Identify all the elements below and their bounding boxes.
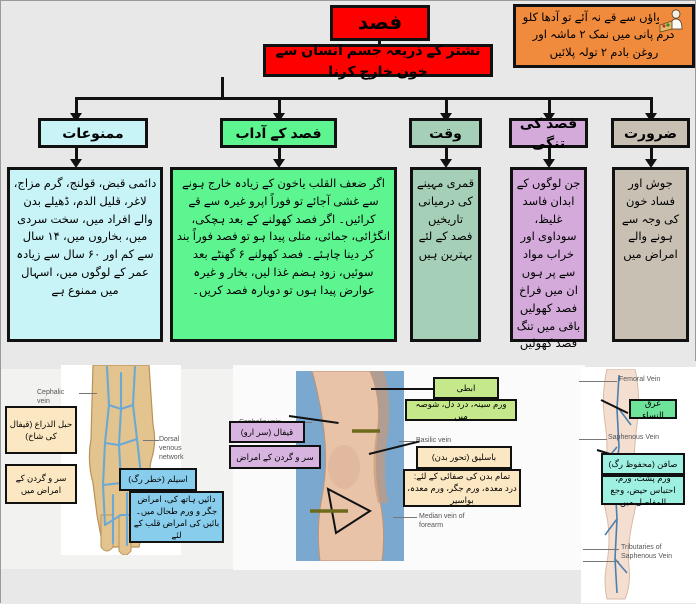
physician-icon [659,7,689,33]
callout-text: قیفال (سر ارو) [241,426,293,438]
callout-habl-ul-zira[interactable]: حبل الذراع (قیفال کی شاخ) [5,406,77,454]
category-body-text: دائمی قبض، قولنج، گرم مزاج، لاغر، قلیل ا… [13,176,157,301]
callout-text: عرق النساء [633,397,673,421]
callout-text: ورم سینہ، درد دل، شوصہ میں [409,398,513,422]
callout-warm-seena[interactable]: ورم سینہ، درد دل، شوصہ میں [405,399,517,421]
english-label-cephalic-vein-left: Cephalicvein [37,389,81,407]
leader-line-tributaries [583,549,619,550]
category-header-zaroorat[interactable]: ضرورت [611,118,690,148]
leader-line-median [393,517,417,518]
callout-sar-o-gardan-left[interactable]: سر و گردن کے امراض میں [5,464,77,504]
page-subtitle-text: نشتر کے ذریعہ جسم انسان سے خون خارج کرنا [269,40,487,81]
callout-basliq[interactable]: باسلیق (تحور بدن) [416,446,512,469]
leader-line-femoral [579,381,617,382]
callout-text: سر و گردن کے امراض میں [9,472,73,496]
callout-text: ابطی [457,382,476,394]
category-header-label: ممنوعات [44,123,142,143]
category-body-text: قمری مہینے کی درمیانی تاریخیں فصد کے لئے… [416,176,475,265]
category-body-waqt: قمری مہینے کی درمیانی تاریخیں فصد کے لئے… [410,167,481,342]
category-body-mamnuaat: دائمی قبض، قولنج، گرم مزاج، لاغر، قلیل ا… [7,167,163,342]
callout-text: باسلیق (تحور بدن) [432,451,496,463]
callout-text: ورم پشت، ورم، احتباس حیض، وجع المفاصل می… [605,472,681,508]
callout-text: حبل الذراع (قیفال کی شاخ) [9,418,73,442]
category-body-text: جوش اور فساد خون کی وجہ سے ہونے والے امر… [618,176,683,265]
english-label-femoral-vein: Femoral Vein [619,376,660,385]
category-body-text: اگر ضعف القلب یاخون کے زیادہ خارج ہونے س… [176,176,391,301]
category-header-mamnuaat[interactable]: ممنوعات [38,118,148,148]
english-label-basilic-vein: Basilic vein [416,437,451,446]
callout-sar-o-gardan-mid[interactable]: سر و گردن کے امراض [229,445,321,469]
category-header-label: ضرورت [617,123,684,143]
category-header-label: وقت [415,123,476,143]
callout-tamam-badan-safai[interactable]: تمام بدن کی صفائی کے لئے: درد معدہ، ورم … [403,469,521,507]
category-body-text: جن لوگوں کے ابدان فاسد غلیظ، سوداوی اور … [516,176,581,354]
callout-text: اسیلم (خطر رگ) [128,473,188,485]
callout-dayen-hath[interactable]: دائیں ہاتھ کی، امراض جگر و ورم طحال میں۔… [129,491,224,543]
callout-irq-un-nisa[interactable]: عرق النساء [629,399,677,419]
english-label-median-vein-of-forearm: Median vein offorearm [419,513,479,531]
leader-line-tributaries-2 [583,561,619,562]
callout-text: دائیں ہاتھ کی، امراض جگر و ورم طحال میں۔… [133,493,220,541]
leader-line-saphenous [579,439,607,440]
category-header-label: فصد کے آداب [226,123,331,143]
callout-text: سر و گردن کے امراض [236,451,313,463]
page-title-fasd: فصد [330,5,430,41]
category-body-tangi: جن لوگوں کے ابدان فاسد غلیظ، سوداوی اور … [510,167,587,342]
callout-qaifal[interactable]: قیفال (سر ارو) [229,421,305,443]
callout-warm-pusht[interactable]: ورم پشت، ورم، احتباس حیض، وجع المفاصل می… [601,475,685,505]
leader-line-dorsal [143,440,159,441]
english-label-tributaries-of-saphenous-vein: Tributaries ofSaphenous Vein [621,544,687,562]
english-label-saphenous-vein: Saphenous Vein [608,434,659,443]
category-header-waqt[interactable]: وقت [409,118,482,148]
callout-text: تمام بدن کی صفائی کے لئے: درد معدہ، ورم … [407,470,517,506]
page-subtitle: نشتر کے ذریعہ جسم انسان سے خون خارج کرنا [263,44,493,77]
connector-bus [75,97,651,100]
category-header-aadaab[interactable]: فصد کے آداب [220,118,337,148]
leader-line-cephalic-left [79,393,97,394]
category-body-zaroorat: جوش اور فساد خون کی وجہ سے ہونے والے امر… [612,167,689,342]
connector-subtitle-bus [221,77,224,99]
callout-text: صافن (محفوظ رگ) [608,458,677,470]
category-header-label: فصد کی تنگی [515,113,582,154]
category-header-tangi[interactable]: فصد کی تنگی [509,118,588,148]
connector-title-subtitle [378,41,381,45]
callout-abti[interactable]: ابطی [433,377,499,399]
category-body-aadaab: اگر ضعف القلب یاخون کے زیادہ خارج ہونے س… [170,167,397,342]
page-title-text: فصد [336,9,424,38]
english-label-dorsal-venous-network: Dorsalvenousnetwork [159,436,207,462]
pointer-abti [371,388,433,390]
callout-usailim[interactable]: اسیلم (خطر رگ) [119,468,197,491]
